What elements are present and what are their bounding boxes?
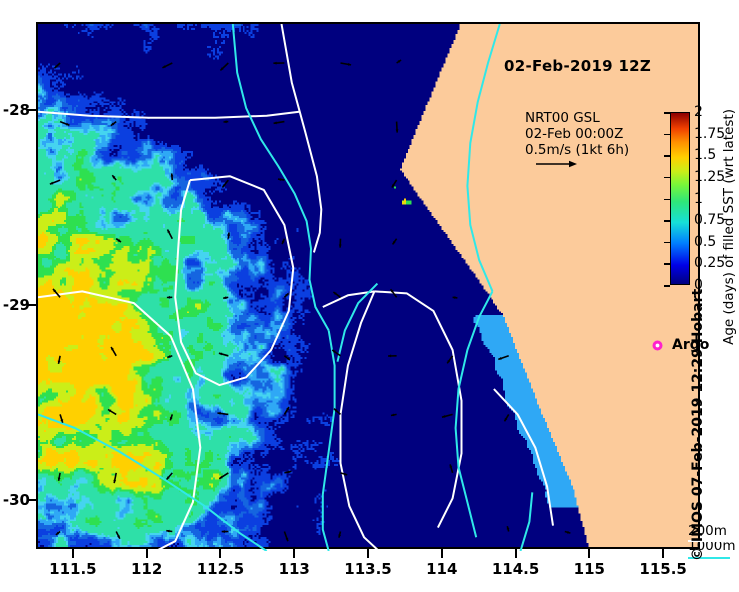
x-tick (219, 549, 221, 558)
x-tick (662, 549, 664, 558)
y-tick-label: -29 (0, 296, 30, 314)
x-tick-label: 112 (131, 560, 162, 578)
contour-1000m (521, 492, 533, 551)
current-vector-head (396, 129, 399, 132)
x-tick (367, 549, 369, 558)
current-vector-head (273, 62, 276, 65)
x-tick-label: 111.5 (49, 560, 96, 578)
x-tick-label: 113 (279, 560, 310, 578)
current-vector-head (222, 530, 225, 533)
current-vector-head (66, 123, 69, 126)
x-tick (441, 549, 443, 558)
contour-1000m (467, 24, 499, 291)
contour-200m (38, 112, 299, 118)
map-overlays (38, 24, 702, 551)
contour-1000m (338, 284, 378, 362)
contour-200m (341, 291, 379, 551)
y-tick-label: -30 (0, 491, 30, 509)
colorbar-title: Age (days) of filled SST (wrt latest) (721, 109, 737, 345)
x-tick (293, 549, 295, 558)
x-tick (588, 549, 590, 558)
sst-age-map-figure: 02-Feb-2019 12Z NRT00 GSL 02-Feb 00:00Z … (0, 0, 739, 592)
current-vector-head (171, 173, 174, 176)
contour-200m (494, 389, 553, 526)
contour-1000m (233, 24, 329, 330)
x-tick-label: 113.5 (344, 560, 391, 578)
current-vector-head (167, 296, 170, 299)
x-tick-label: 115 (574, 560, 605, 578)
current-vector-head (388, 354, 391, 357)
x-tick-label: 114 (426, 560, 457, 578)
copyright-text: © IMOS 07-Feb-2019 12:29 Hobart (690, 289, 706, 561)
contour-200m (175, 176, 293, 385)
contour-200m (374, 291, 461, 527)
current-vector-head (224, 120, 227, 123)
x-tick-label: 114.5 (492, 560, 539, 578)
x-tick (72, 549, 74, 558)
contour-1000m (323, 330, 335, 551)
x-tick-label: 115.5 (639, 560, 686, 578)
contour-200m (282, 24, 322, 252)
current-vector-head (286, 538, 289, 541)
current-vector-head (339, 245, 342, 248)
x-tick-label: 112.5 (197, 560, 244, 578)
map-plot-area: 02-Feb-2019 12Z NRT00 GSL 02-Feb 00:00Z … (36, 22, 700, 549)
contour-1000m (38, 414, 267, 551)
y-tick-label: -28 (0, 101, 30, 119)
x-tick (146, 549, 148, 558)
x-tick (515, 549, 517, 558)
